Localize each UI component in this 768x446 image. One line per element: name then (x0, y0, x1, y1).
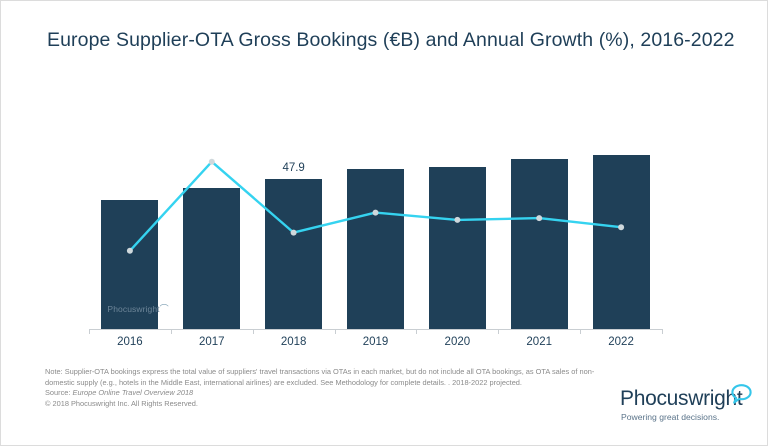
footnote-source-title: Europe Online Travel Overview 2018 (73, 388, 194, 397)
x-axis-label-2020: 2020 (445, 336, 471, 348)
logo-tagline: Powering great decisions. (621, 412, 719, 422)
x-axis-label-2016: 2016 (117, 336, 143, 348)
footnote-copyright: © 2018 Phocuswright Inc. All Rights Rese… (45, 399, 605, 410)
x-axis-label-2022: 2022 (608, 336, 634, 348)
chart-page: Europe Supplier-OTA Gross Bookings (€B) … (0, 0, 768, 446)
axis-tick (416, 329, 417, 334)
footnote-source: Source: Europe Online Travel Overview 20… (45, 388, 605, 399)
axis-tick (498, 329, 499, 334)
axis-tick (580, 329, 581, 334)
chart-plot-area: 47.9 Phocuswright⌒ (89, 89, 662, 329)
data-label-layer: 47.9 (89, 89, 662, 329)
phocuswright-logo: Phocuswright Powering great decisions. (620, 387, 752, 429)
x-axis-line (89, 329, 662, 330)
footnote-note: Note: Supplier-OTA bookings express the … (45, 367, 605, 388)
page-title: Europe Supplier-OTA Gross Bookings (€B) … (47, 27, 737, 53)
x-axis-label-2019: 2019 (363, 336, 389, 348)
x-axis-label-2021: 2021 (526, 336, 552, 348)
bar-value-label-2018: 47.9 (282, 162, 304, 174)
axis-tick (253, 329, 254, 334)
axis-tick (335, 329, 336, 334)
x-axis-label-2018: 2018 (281, 336, 307, 348)
axis-tick (171, 329, 172, 334)
x-axis-label-2017: 2017 (199, 336, 225, 348)
axis-tick (89, 329, 90, 334)
footnote-source-label: Source: (45, 388, 73, 397)
axis-tick (662, 329, 663, 334)
speech-bubble-icon (728, 383, 754, 414)
footnote-block: Note: Supplier-OTA bookings express the … (45, 367, 605, 409)
logo-wordmark: Phocuswright (620, 387, 742, 411)
watermark-phocuswright: Phocuswright⌒ (107, 302, 168, 315)
